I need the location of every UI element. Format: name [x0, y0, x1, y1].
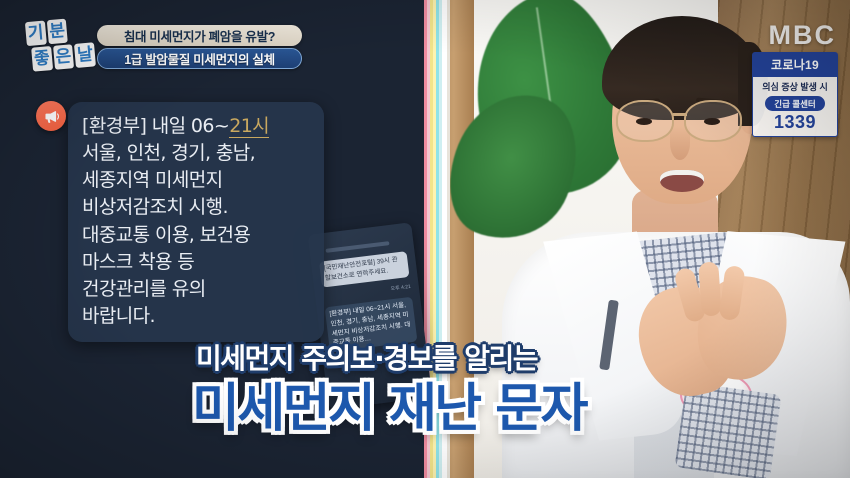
megaphone-icon [36, 101, 66, 131]
broadcast-screenshot: 용 [0, 0, 850, 478]
message-line: 세종지역 미세먼지 [82, 167, 310, 194]
eye-right [704, 118, 720, 125]
show-logo-char: 날 [74, 42, 96, 68]
nose [670, 126, 690, 160]
message-line: 마스크 착용 등 [82, 249, 310, 276]
message-line: 비상저감조치 시행. [82, 194, 310, 221]
message-line: [환경부] 내일 06~21시 [82, 113, 310, 140]
finger [698, 261, 722, 316]
show-logo-char: 은 [53, 44, 75, 70]
eye-left [636, 118, 652, 125]
disaster-message-card: [환경부] 내일 06~21시 서울, 인천, 경기, 충남, 세종지역 미세먼… [68, 102, 324, 342]
phone-bubble-incoming: [국민재난안전포털] 39시 관할보건소로 연락주세요. [319, 251, 409, 287]
message-line: 건강관리를 유의 [82, 276, 310, 303]
program-title-upper: 침대 미세먼지가 폐암을 유발? [97, 25, 302, 46]
corona-hotline-number: 1339 [753, 112, 837, 134]
message-line-highlight: 21시 [229, 115, 269, 138]
corona-hotline-pill: 긴급 콜센터 [765, 96, 824, 111]
show-logo-char: 분 [46, 19, 68, 45]
phone-timestamp: 오후 4:21 [390, 283, 411, 292]
message-line: 서울, 인천, 경기, 충남, [82, 140, 310, 167]
message-line-text: [환경부] 내일 06~ [82, 115, 229, 137]
message-line: 바랍니다. [82, 303, 310, 330]
show-logo: 기 분 좋 은 날 [25, 16, 101, 74]
mouth [660, 170, 704, 192]
corona-info-box: 코로나19 의심 증상 발생 시 긴급 콜센터 1339 [752, 52, 838, 137]
corona-subtitle: 의심 증상 발생 시 [753, 77, 837, 94]
show-logo-char: 좋 [31, 46, 53, 72]
program-title-lower: 1급 발암물질 미세먼지의 실체 [97, 48, 302, 69]
caption-headline: 미세먼지 재난 문자 [192, 366, 586, 441]
message-line: 대중교통 이용, 보건용 [82, 222, 310, 249]
mbc-logo: MBC [769, 20, 837, 51]
show-logo-char: 기 [25, 21, 47, 47]
phone-status-bar [325, 241, 389, 253]
corona-title: 코로나19 [753, 53, 837, 77]
